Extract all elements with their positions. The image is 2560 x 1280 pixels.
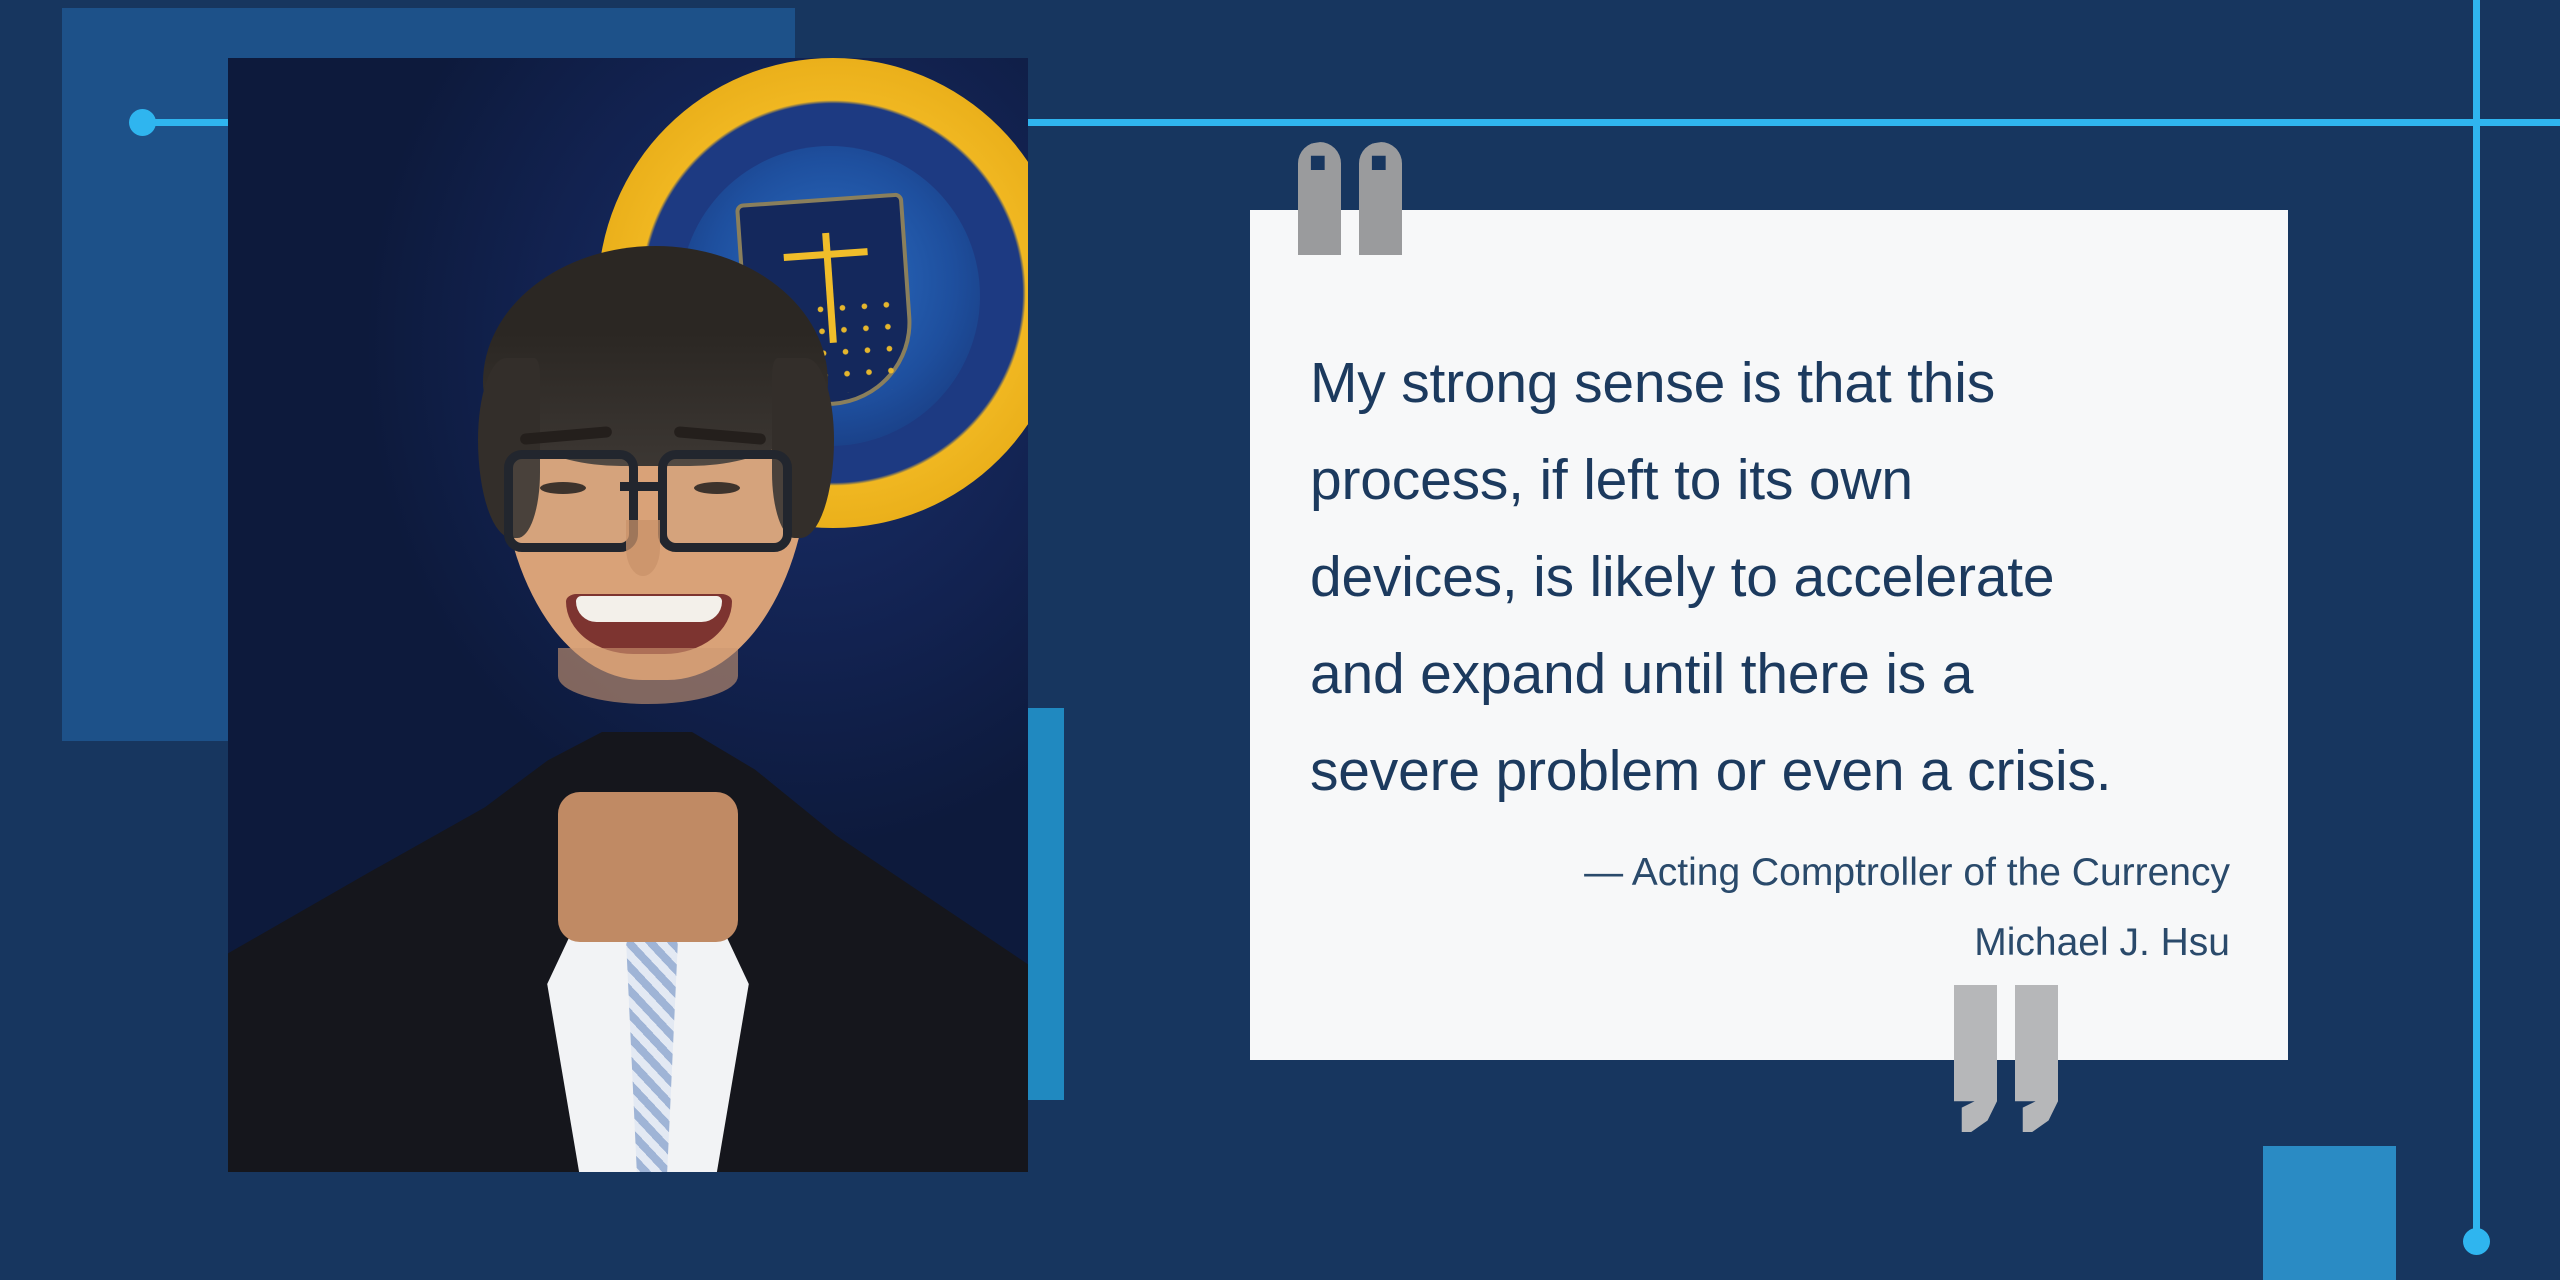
quote-card: My strong sense is that this process, if… [1250, 210, 2288, 1060]
quote-line: My strong sense is that this [1310, 335, 2230, 432]
portrait-photo [228, 58, 1028, 1172]
quote-line: severe problem or even a crisis. [1310, 723, 2230, 820]
chin [558, 648, 738, 704]
quote-graphic: My strong sense is that this process, if… [0, 0, 2560, 1280]
quote-line: process, if left to its own [1310, 432, 2230, 529]
decor-vertical-line [2473, 0, 2480, 1240]
eyeglasses-bridge [620, 482, 658, 491]
quote-text: My strong sense is that this process, if… [1310, 335, 2230, 820]
eyeglasses-lens-left [504, 450, 638, 552]
quote-line: devices, is likely to accelerate [1310, 529, 2230, 626]
teeth [576, 596, 722, 622]
decor-corner-square [2263, 1146, 2396, 1280]
eyeglasses-lens-right [658, 450, 792, 552]
neck [558, 792, 738, 942]
close-quote-icon [1954, 985, 2058, 1070]
attribution-name: Michael J. Hsu [1584, 908, 2230, 978]
quote-line: and expand until there is a [1310, 626, 2230, 723]
attribution: — Acting Comptroller of the Currency Mic… [1584, 838, 2230, 978]
nose [626, 520, 660, 576]
attribution-title: — Acting Comptroller of the Currency [1584, 838, 2230, 908]
decor-dot-bottom [2463, 1228, 2490, 1255]
open-quote-icon [1298, 170, 1402, 255]
decor-dot-left [129, 109, 156, 136]
